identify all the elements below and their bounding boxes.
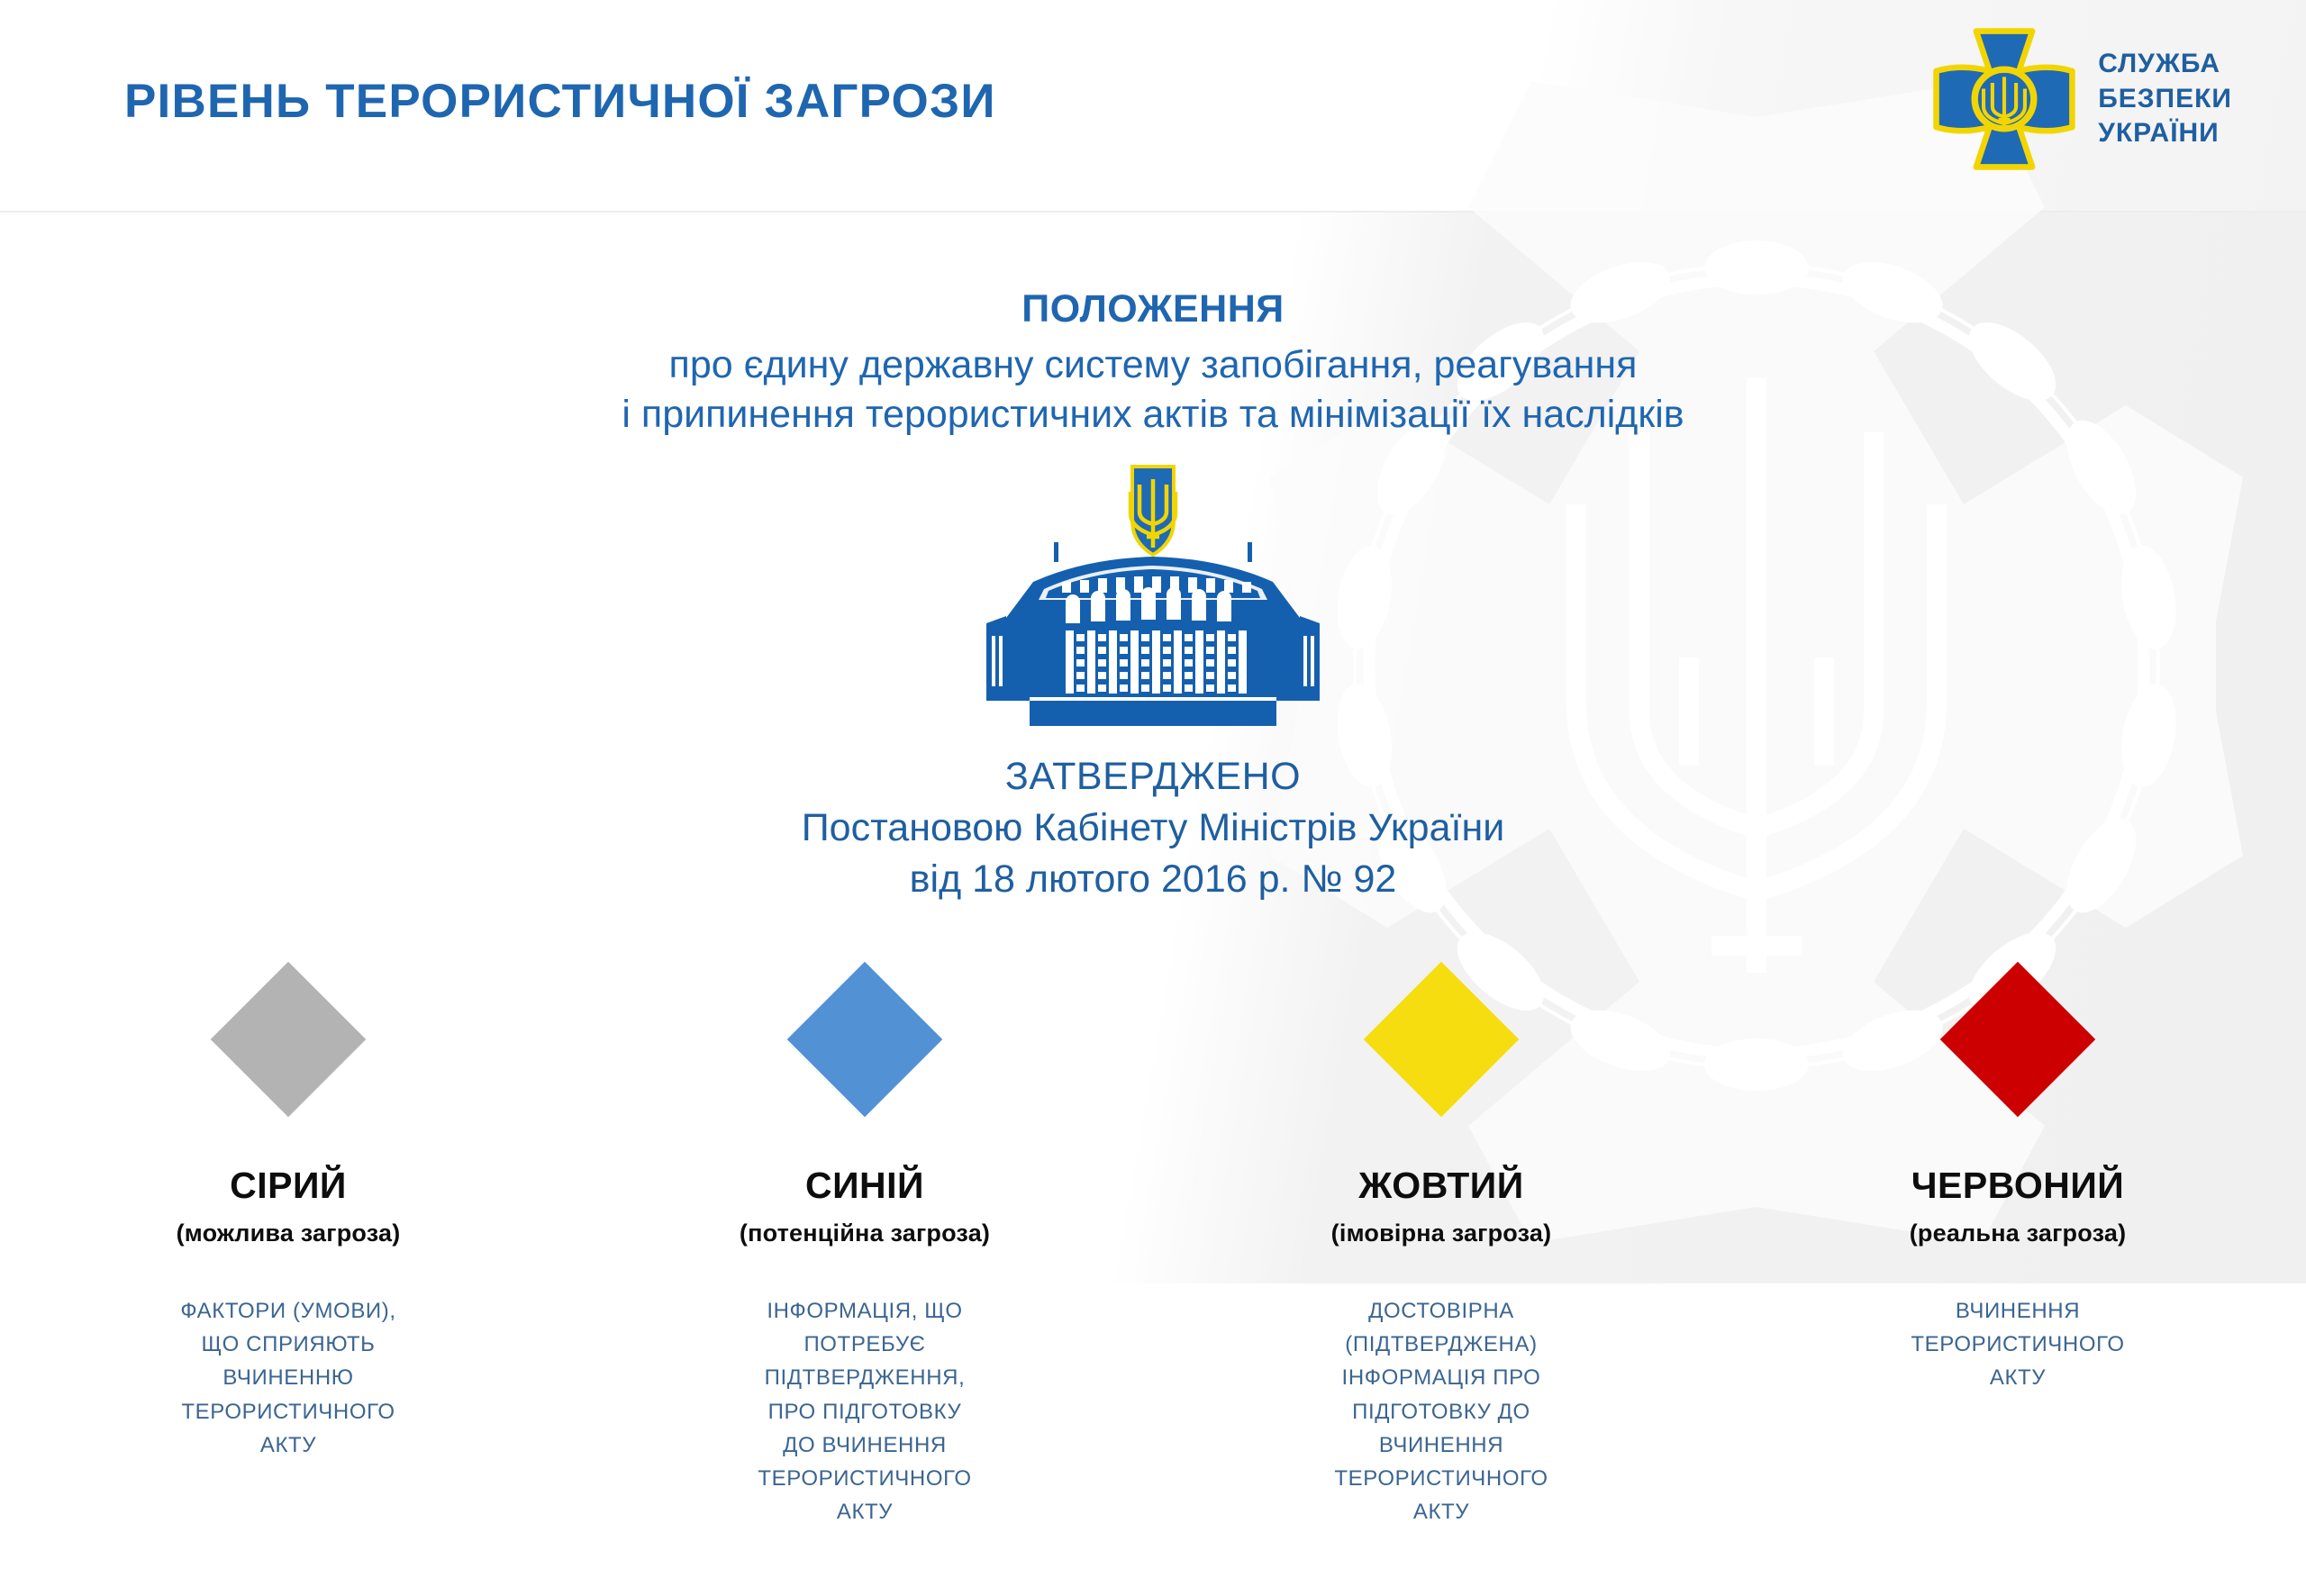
approval-line-3: від 18 лютого 2016 р. № 92 <box>0 854 2306 905</box>
threat-diamond-yellow <box>1364 962 1520 1118</box>
threat-level-qualifier: (потенційна загроза) <box>740 1220 990 1247</box>
threat-level-blue: СИНІЙ (потенційна загроза) ІНФОРМАЦІЯ, Щ… <box>576 968 1153 1545</box>
threat-level-legend: СІРИЙ (можлива загроза) ФАКТОРИ (УМОВИ),… <box>0 968 2306 1545</box>
page-header: РІВЕНЬ ТЕРОРИСТИЧНОЇ ЗАГРОЗИ СЛУЖБА БЕЗП… <box>0 0 2306 212</box>
document-kicker: ПОЛОЖЕННЯ <box>0 287 2306 331</box>
threat-level-description: ДОСТОВІРНА (ПІДТВЕРДЖЕНА) ІНФОРМАЦІЯ ПРО… <box>1334 1294 1548 1528</box>
sbu-cross-emblem-icon <box>1930 25 2078 173</box>
threat-level-name: ЧЕРВОНИЙ <box>1911 1165 2125 1207</box>
sbu-word-line-1: СЛУЖБА <box>2098 50 2232 78</box>
threat-diamond-blue <box>787 962 943 1118</box>
threat-level-yellow: ЖОВТИЙ (імовірна загроза) ДОСТОВІРНА (ПІ… <box>1153 968 1729 1545</box>
page-title: РІВЕНЬ ТЕРОРИСТИЧНОЇ ЗАГРОЗИ <box>124 74 996 129</box>
threat-level-qualifier: (можлива загроза) <box>177 1220 401 1247</box>
threat-level-description: ВЧИНЕННЯ ТЕРОРИСТИЧНОГО АКТУ <box>1911 1294 2124 1395</box>
sbu-logo-wordmark: СЛУЖБА БЕЗПЕКИ УКРАЇНИ <box>2098 50 2232 148</box>
document-subtitle: про єдину державну систему запобігання, … <box>0 340 2306 440</box>
sbu-word-line-2: БЕЗПЕКИ <box>2098 85 2232 113</box>
threat-diamond-grey <box>211 962 367 1118</box>
threat-diamond-red <box>1940 962 2096 1118</box>
cabinet-of-ministers-building-emblem-icon <box>979 465 1327 731</box>
document-subtitle-line-1: про єдину державну систему запобігання, … <box>0 340 2306 390</box>
threat-level-qualifier: (реальна загроза) <box>1910 1220 2127 1247</box>
document-subtitle-line-2: і припинення терористичних актів та міні… <box>0 390 2306 440</box>
threat-level-qualifier: (імовірна загроза) <box>1331 1220 1552 1247</box>
threat-level-red: ЧЕРВОНИЙ (реальна загроза) ВЧИНЕННЯ ТЕРО… <box>1729 968 2306 1545</box>
approval-line-1: ЗАТВЕРДЖЕНО <box>0 751 2306 803</box>
threat-level-description: ІНФОРМАЦІЯ, ЩО ПОТРЕБУЄ ПІДТВЕРДЖЕННЯ, П… <box>758 1294 971 1528</box>
threat-level-description: ФАКТОРИ (УМОВИ), ЩО СПРИЯЮТЬ ВЧИНЕННЮ ТЕ… <box>180 1294 395 1462</box>
threat-level-name: СИНІЙ <box>805 1165 924 1207</box>
sbu-logo: СЛУЖБА БЕЗПЕКИ УКРАЇНИ <box>1930 25 2232 173</box>
threat-level-name: СІРИЙ <box>230 1165 347 1207</box>
approval-line-2: Постановою Кабінету Міністрів України <box>0 803 2306 854</box>
main-content: ПОЛОЖЕННЯ про єдину державну систему зап… <box>0 212 2306 906</box>
threat-level-grey: СІРИЙ (можлива загроза) ФАКТОРИ (УМОВИ),… <box>0 968 576 1545</box>
threat-level-name: ЖОВТИЙ <box>1358 1165 1523 1207</box>
approval-block: ЗАТВЕРДЖЕНО Постановою Кабінету Міністрі… <box>0 751 2306 906</box>
sbu-word-line-3: УКРАЇНИ <box>2098 119 2232 148</box>
